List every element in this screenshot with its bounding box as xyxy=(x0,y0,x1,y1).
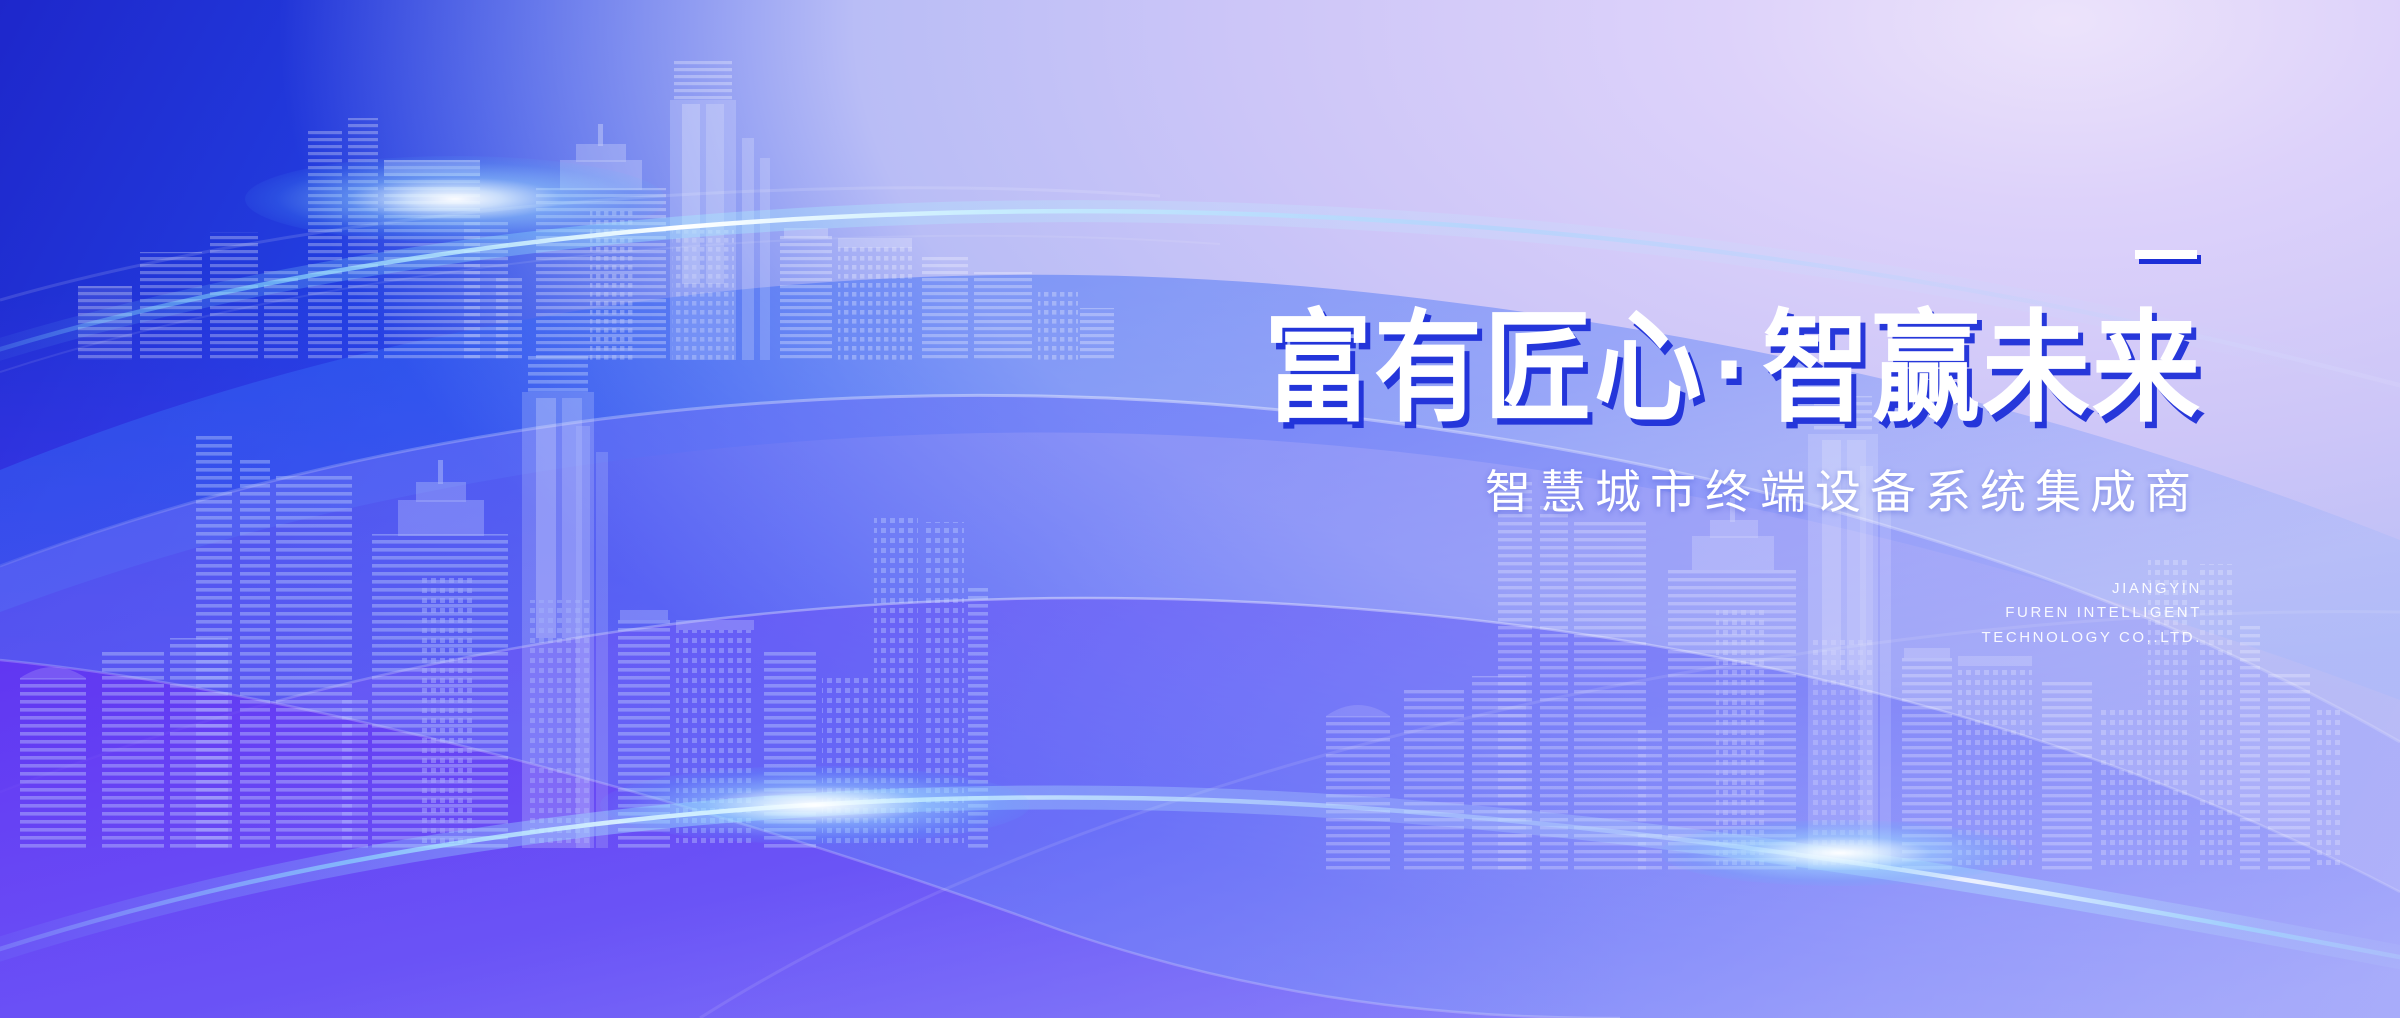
company-name-block: JIANGYIN FUREN INTELLIGENT TECHNOLOGY CO… xyxy=(1022,577,2202,650)
company-line-2: FUREN INTELLIGENT xyxy=(1022,601,2202,625)
banner-text-block: 富有匠心·智赢未来 智慧城市终端设备系统集成商 JIANGYIN FUREN I… xyxy=(1022,246,2202,650)
company-line-1: JIANGYIN xyxy=(1022,577,2202,601)
page-subtitle: 智慧城市终端设备系统集成商 xyxy=(1022,469,2202,515)
page-title: 富有匠心·智赢未来 xyxy=(1022,308,2202,429)
accent-dash-icon xyxy=(2135,250,2197,259)
skyline-lower-left-icon xyxy=(0,348,990,848)
company-line-3: TECHNOLOGY CO,.LTD. xyxy=(1022,626,2202,650)
headline-part-2: 智赢未来 xyxy=(1762,300,2202,436)
headline-separator: · xyxy=(1704,300,1762,436)
skyline-top-icon xyxy=(60,40,1120,360)
banner-canvas: 富有匠心·智赢未来 智慧城市终端设备系统集成商 JIANGYIN FUREN I… xyxy=(0,0,2400,1018)
headline-part-1: 富有匠心 xyxy=(1264,300,1704,436)
